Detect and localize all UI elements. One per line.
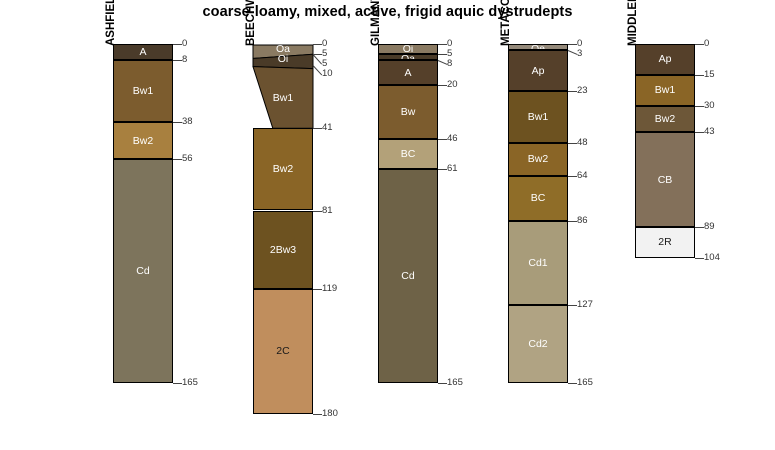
horizon-bw1: Bw1: [635, 75, 695, 106]
pedon-name-label: GILMANTON: [370, 0, 382, 46]
depth-tick-line: [695, 132, 704, 133]
depth-tick-label: 46: [447, 134, 458, 144]
depth-tick-label: 0: [704, 39, 709, 49]
horizon-a: A: [378, 60, 438, 85]
depth-tick-label: 20: [447, 80, 458, 90]
depth-tick-line: [173, 44, 182, 45]
depth-tick-line: [695, 227, 704, 228]
depth-tick-label: 81: [322, 206, 333, 216]
horizon-label: Oi: [379, 44, 437, 54]
depth-tick-label: 0: [447, 39, 452, 49]
horizon-bw2: Bw2: [635, 106, 695, 133]
depth-tick-label: 8: [182, 55, 187, 65]
depth-tick-line: [695, 258, 704, 259]
horizon-cb: CB: [635, 132, 695, 227]
horizon-label: 2R: [636, 237, 694, 248]
depth-tick-line: [173, 383, 182, 384]
horizon-2c: 2C: [253, 289, 313, 414]
depth-tick-line: [313, 414, 322, 415]
horizon-label: Cd: [379, 271, 437, 282]
depth-tick-label: 41: [322, 123, 333, 133]
depth-tick-label: 64: [577, 171, 588, 181]
horizon-label: 2Bw3: [254, 245, 312, 256]
depth-tick-line: [313, 211, 322, 212]
horizon-bw1: Bw1: [508, 91, 568, 142]
depth-tick-line: [568, 91, 577, 92]
depth-tick-label: 89: [704, 222, 715, 232]
depth-tick-line: [313, 44, 322, 45]
pedon-name-label: METACOMET: [500, 0, 512, 46]
depth-tick-label: 104: [704, 253, 720, 263]
depth-tick-line: [313, 54, 323, 65]
horizon-2bw3: 2Bw3: [253, 211, 313, 289]
depth-tick-label: 43: [704, 127, 715, 137]
horizon-label: Bw2: [254, 164, 312, 175]
horizon-label: Bw2: [636, 114, 694, 125]
depth-tick-line: [695, 106, 704, 107]
depth-tick-line: [568, 176, 577, 177]
horizon-label: Cd: [114, 266, 172, 277]
horizon-label: Cd2: [509, 339, 567, 350]
horizon-bw2: Bw2: [113, 122, 173, 159]
depth-tick-label: 3: [577, 49, 582, 59]
horizon-a: A: [113, 44, 173, 60]
depth-tick-line: [568, 143, 577, 144]
depth-tick-line: [438, 60, 447, 65]
horizon-bw1: Bw1: [113, 60, 173, 122]
depth-tick-line: [568, 50, 577, 55]
horizon-label: BC: [379, 149, 437, 160]
depth-tick-label: 23: [577, 86, 588, 96]
depth-tick-line: [438, 383, 447, 384]
horizon-cd: Cd: [113, 159, 173, 383]
depth-tick-label: 38: [182, 117, 193, 127]
horizon-bw2: Bw2: [508, 143, 568, 176]
depth-tick-line: [438, 139, 447, 140]
depth-tick-label: 61: [447, 164, 458, 174]
depth-tick-line: [438, 169, 447, 170]
depth-tick-label: 86: [577, 216, 588, 226]
depth-tick-line: [438, 44, 447, 45]
horizon-bw2: Bw2: [253, 128, 313, 210]
depth-tick-label: 8: [447, 59, 452, 69]
depth-tick-label: 127: [577, 300, 593, 310]
pedon-name-label: ASHFIELD: [105, 0, 117, 46]
horizon-label: Bw: [379, 107, 437, 118]
horizon-2r: 2R: [635, 227, 695, 258]
soil-profile-plot: coarse-loamy, mixed, active, frigid aqui…: [0, 0, 775, 450]
horizon-bw: Bw: [378, 85, 438, 138]
horizon-ap: Ap: [508, 50, 568, 91]
horizon-label: Bw1: [636, 85, 694, 96]
pedon-name-label: BEECHWOOD: [245, 0, 257, 46]
depth-tick-label: 165: [577, 378, 593, 388]
depth-tick-line: [438, 54, 447, 55]
depth-tick-label: 10: [322, 69, 333, 79]
depth-tick-label: 165: [447, 378, 463, 388]
horizon-oi: Oi: [378, 44, 438, 54]
horizon-bc: BC: [378, 139, 438, 170]
horizon-label: BC: [509, 193, 567, 204]
horizon-label: Ap: [509, 66, 567, 77]
horizon-label: Bw1: [114, 86, 172, 97]
depth-tick-label: 56: [182, 154, 193, 164]
depth-tick-label: 15: [704, 70, 715, 80]
depth-tick-label: 165: [182, 378, 198, 388]
horizon-ap: Ap: [635, 44, 695, 75]
horizon-label: Cd1: [509, 258, 567, 269]
horizon-label: A: [114, 47, 172, 58]
horizon-label: Bw1: [253, 93, 313, 104]
horizon-label: Bw1: [509, 112, 567, 123]
depth-tick-line: [568, 44, 577, 45]
depth-tick-line: [438, 85, 447, 86]
depth-tick-line: [568, 383, 577, 384]
horizon-bw1: [253, 44, 313, 132]
pedon-name-label: MIDDLEBROOK: [627, 0, 639, 46]
horizon-bc: BC: [508, 176, 568, 221]
depth-tick-label: 119: [322, 284, 337, 294]
horizon-label: CB: [636, 175, 694, 186]
depth-tick-label: 0: [182, 39, 187, 49]
depth-tick-line: [695, 44, 704, 45]
depth-tick-line: [173, 122, 182, 123]
depth-tick-line: [313, 65, 323, 75]
depth-tick-line: [313, 128, 322, 129]
depth-tick-line: [695, 75, 704, 76]
depth-tick-line: [568, 221, 577, 222]
horizon-label: 2C: [254, 346, 312, 357]
depth-tick-line: [173, 60, 182, 61]
horizon-label: Bw2: [509, 154, 567, 165]
horizon-cd: Cd: [378, 169, 438, 383]
depth-tick-label: 180: [322, 409, 338, 419]
horizon-label: Ap: [636, 54, 694, 65]
depth-tick-line: [173, 159, 182, 160]
depth-tick-line: [568, 305, 577, 306]
horizon-label: A: [379, 68, 437, 79]
horizon-cd2: Cd2: [508, 305, 568, 383]
horizon-label: Bw2: [114, 136, 172, 147]
horizon-cd1: Cd1: [508, 221, 568, 305]
depth-tick-line: [313, 289, 322, 290]
depth-tick-label: 0: [322, 39, 327, 49]
depth-tick-label: 48: [577, 138, 588, 148]
depth-tick-label: 30: [704, 101, 715, 111]
